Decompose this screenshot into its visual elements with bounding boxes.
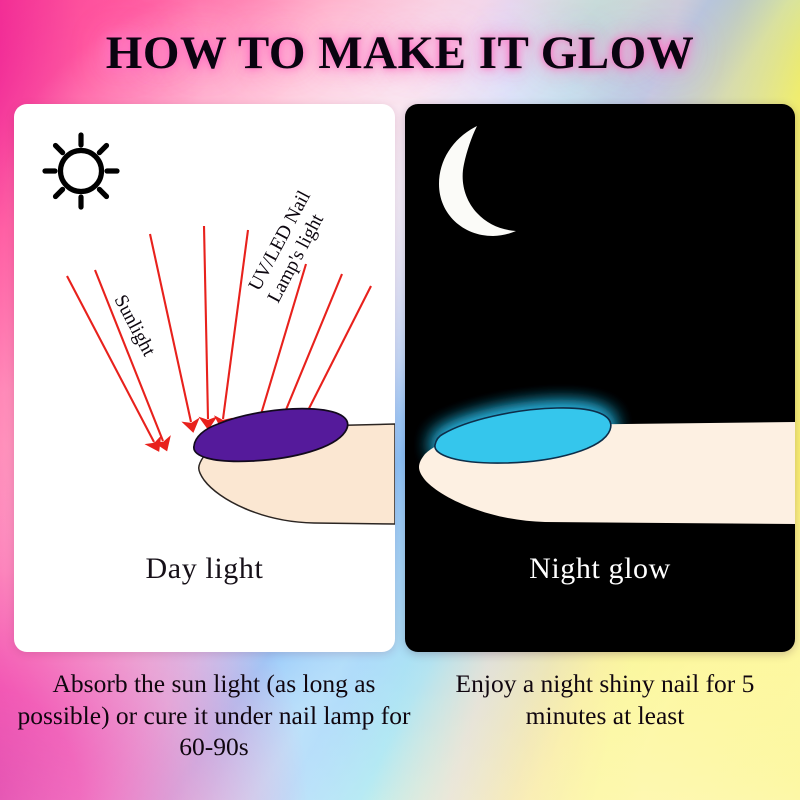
bottom-caption-day: Absorb the sun light (as long as possibl… [16, 668, 412, 763]
bottom-caption-night: Enjoy a night shiny nail for 5 minutes a… [414, 668, 796, 731]
ray-3 [150, 234, 191, 422]
panel-night-glow: Night glow [405, 104, 795, 652]
crescent-moon-icon [439, 126, 516, 236]
page-title: HOW TO MAKE IT GLOW [0, 26, 800, 80]
panel-caption-night: Night glow [405, 552, 795, 586]
ray-5 [223, 230, 248, 419]
panel-day-light: Sunlight UV/LED Nail Lamp's light Day li… [14, 104, 395, 652]
ray-4 [204, 226, 208, 419]
infographic-stage: HOW TO MAKE IT GLOW [0, 0, 800, 800]
panel-caption-day: Day light [14, 552, 395, 586]
sun-icon [45, 135, 117, 207]
